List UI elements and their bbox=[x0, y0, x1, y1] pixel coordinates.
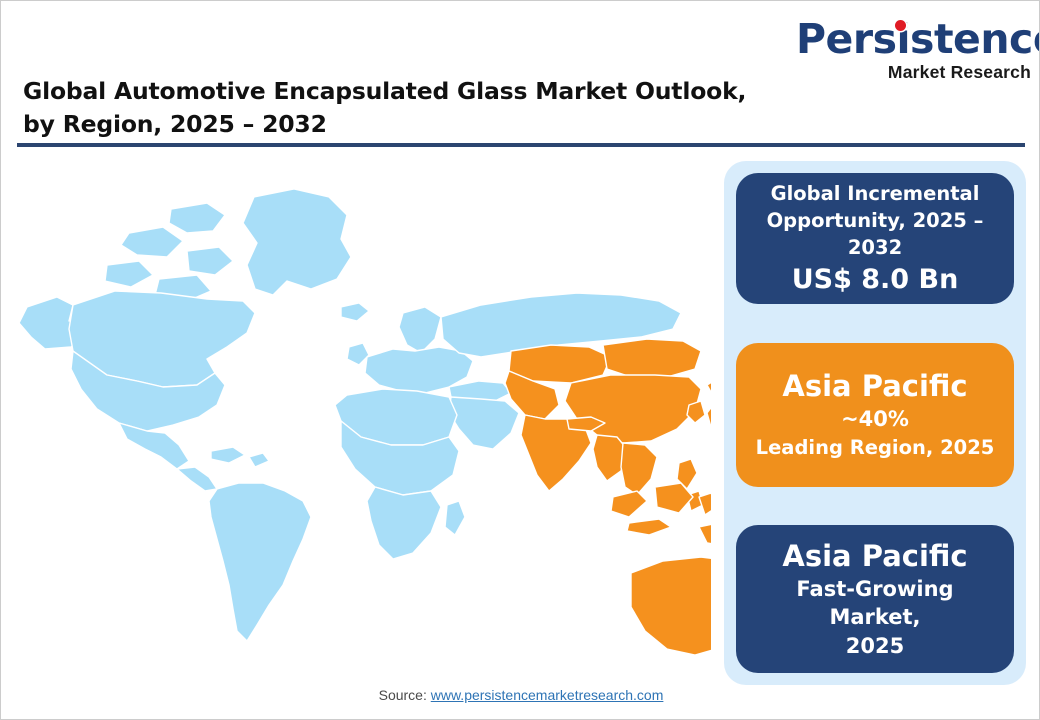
stat-card-1-line-1: Global Incremental bbox=[771, 180, 980, 207]
stat-card-2-line-3: Leading Region, 2025 bbox=[756, 434, 995, 461]
map-shape-arctic-islands-a bbox=[169, 203, 225, 233]
logo-red-dot-icon bbox=[895, 20, 906, 31]
map-shape-iceland bbox=[341, 303, 369, 321]
stat-card-2-value: ~40% bbox=[841, 405, 909, 433]
stat-card-3-line-3: 2025 bbox=[846, 632, 904, 660]
infographic-canvas: Persistence Market Research Global Autom… bbox=[0, 0, 1040, 720]
logo-subtitle: Market Research bbox=[796, 64, 1031, 82]
map-shape-australia bbox=[631, 557, 711, 655]
logo-wordmark: Persistence bbox=[796, 19, 1031, 60]
stat-card-3-line-2: Fast-Growing Market, bbox=[748, 575, 1002, 632]
source-label: Source: bbox=[379, 687, 431, 703]
map-shape-papua-new-guinea bbox=[699, 521, 711, 547]
stats-panel: Global Incremental Opportunity, 2025 – 2… bbox=[724, 161, 1026, 685]
source-link[interactable]: www.persistencemarketresearch.com bbox=[431, 687, 664, 703]
map-shape-scandinavia bbox=[399, 307, 441, 353]
stat-card-leading-region[interactable]: Asia Pacific ~40% Leading Region, 2025 bbox=[736, 343, 1014, 487]
map-shape-arctic-islands-d bbox=[105, 261, 153, 287]
map-shape-japan-main bbox=[707, 399, 711, 433]
map-shape-madagascar bbox=[445, 501, 465, 535]
map-shape-caribbean-a bbox=[211, 447, 245, 463]
map-shape-java bbox=[627, 519, 671, 535]
page-title-line-2: by Region, 2025 – 2032 bbox=[23, 108, 783, 141]
map-shape-greenland bbox=[243, 189, 351, 295]
stat-card-1-value: US$ 8.0 Bn bbox=[792, 262, 959, 298]
map-shape-sumatra bbox=[611, 491, 647, 517]
map-shape-british-isles bbox=[347, 343, 369, 365]
stat-card-fast-growing-market[interactable]: Asia Pacific Fast-Growing Market, 2025 bbox=[736, 525, 1014, 673]
map-shape-indochina bbox=[621, 443, 657, 495]
company-logo: Persistence Market Research bbox=[796, 19, 1031, 81]
map-shape-arctic-islands-b bbox=[121, 227, 183, 257]
map-shape-korea bbox=[687, 401, 705, 423]
stat-card-2-line-1: Asia Pacific bbox=[782, 368, 967, 405]
map-shape-central-america bbox=[177, 467, 217, 491]
page-title: Global Automotive Encapsulated Glass Mar… bbox=[23, 75, 783, 142]
world-map-svg bbox=[11, 161, 711, 671]
stat-card-global-incremental-opportunity[interactable]: Global Incremental Opportunity, 2025 – 2… bbox=[736, 173, 1014, 304]
map-shape-sulawesi bbox=[699, 493, 711, 515]
map-shape-southern-africa bbox=[367, 487, 441, 559]
source-line: Source: www.persistencemarketresearch.co… bbox=[1, 687, 1040, 703]
map-shape-caribbean-b bbox=[249, 453, 269, 467]
stat-card-1-line-2: Opportunity, 2025 – 2032 bbox=[748, 207, 1002, 262]
map-shape-middle-east bbox=[449, 397, 519, 449]
map-shape-northeast-asia bbox=[603, 339, 701, 377]
stat-card-3-line-1: Asia Pacific bbox=[782, 538, 967, 575]
map-shape-japan bbox=[707, 379, 711, 399]
map-highlight-asia-pacific bbox=[505, 339, 711, 671]
page-title-line-1: Global Automotive Encapsulated Glass Mar… bbox=[23, 75, 783, 108]
title-divider bbox=[17, 143, 1025, 147]
world-map bbox=[11, 161, 711, 671]
map-shape-arctic-islands-c bbox=[187, 247, 233, 275]
map-shape-south-america bbox=[209, 483, 311, 641]
